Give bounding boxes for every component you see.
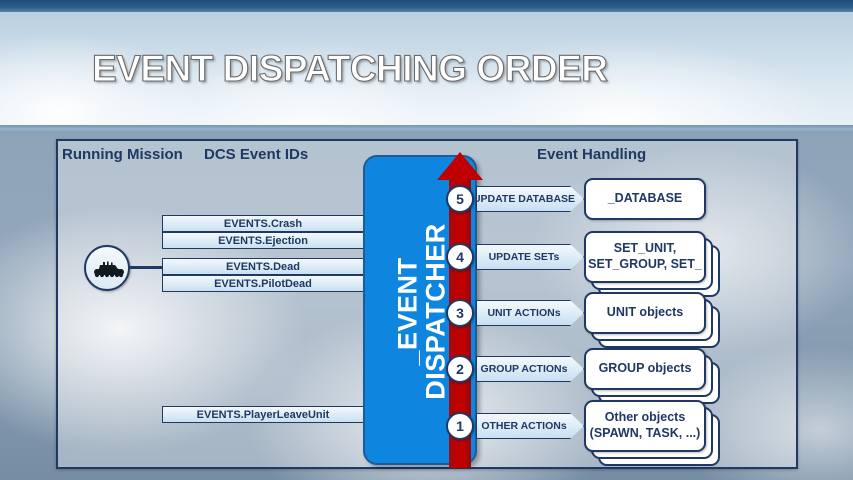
event-arrow-ejection[interactable]: EVENTS.Ejection <box>162 232 374 249</box>
step-number-5: 5 <box>446 185 474 213</box>
result-card-group-5: _DATABASE <box>584 178 706 220</box>
result-card-4[interactable]: SET_UNIT, SET_GROUP, SET_ <box>584 231 706 283</box>
header-top-bar <box>0 0 853 12</box>
page-title: EVENT DISPATCHING ORDER <box>92 48 607 90</box>
column-header-running-mission: Running Mission <box>62 146 183 163</box>
event-arrow-pilotdead[interactable]: EVENTS.PilotDead <box>162 275 374 292</box>
result-card-group-3: UNIT objects <box>584 292 706 334</box>
result-card-group-4: SET_UNIT, SET_GROUP, SET_ <box>584 231 706 283</box>
column-header-event-handling: Event Handling <box>537 146 646 163</box>
mission-node <box>84 245 130 291</box>
column-header-dcs-event-ids: DCS Event IDs <box>204 146 308 163</box>
step-action-arrow-3[interactable]: UNIT ACTIONs <box>476 300 584 326</box>
step-number-3: 3 <box>446 299 474 327</box>
step-number-4: 4 <box>446 243 474 271</box>
slide-canvas: EVENT DISPATCHING ORDER Running Mission … <box>0 0 853 480</box>
step-action-arrow-5[interactable]: UPDATE DATABASE <box>476 186 584 212</box>
result-card-group-2: GROUP objects <box>584 348 706 390</box>
event-dispatcher-label: _EVENT DISPATCHER <box>394 224 449 401</box>
step-action-arrow-1[interactable]: OTHER ACTIONs <box>476 413 584 439</box>
result-card-5[interactable]: _DATABASE <box>584 178 706 220</box>
event-arrow-crash[interactable]: EVENTS.Crash <box>162 215 374 232</box>
result-card-1[interactable]: Other objects (SPAWN, TASK, ...) <box>584 400 706 452</box>
result-card-3[interactable]: UNIT objects <box>584 292 706 334</box>
result-card-2[interactable]: GROUP objects <box>584 348 706 390</box>
step-number-2: 2 <box>446 355 474 383</box>
result-card-group-1: Other objects (SPAWN, TASK, ...) <box>584 400 706 452</box>
mission-connector-arrow <box>129 266 165 269</box>
tank-icon <box>93 261 125 278</box>
step-action-arrow-2[interactable]: GROUP ACTIONs <box>476 356 584 382</box>
event-arrow-dead[interactable]: EVENTS.Dead <box>162 258 374 275</box>
dispatch-order-up-arrow-icon <box>437 152 483 180</box>
step-action-arrow-4[interactable]: UPDATE SETs <box>476 244 584 270</box>
step-number-1: 1 <box>446 412 474 440</box>
event-arrow-playerleaveunit[interactable]: EVENTS.PlayerLeaveUnit <box>162 406 374 423</box>
header-underline <box>0 125 853 133</box>
